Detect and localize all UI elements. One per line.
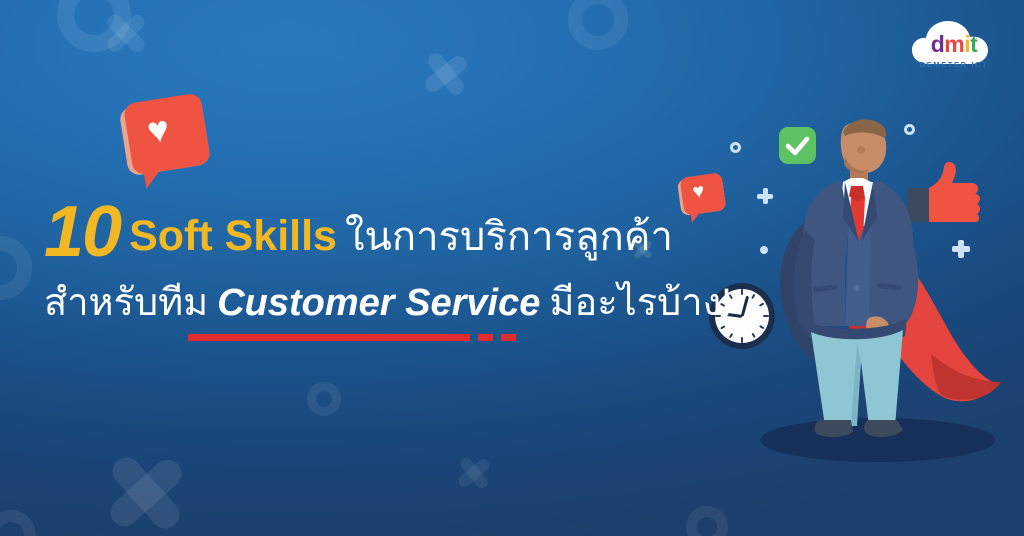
logo-letter-t: t [970,31,977,57]
deco-ring-bottom-mid [307,382,341,416]
bubble-tail [143,166,166,189]
deco-ring-top-right [568,0,628,50]
logo-tagline: DEMETER ICT [908,60,1000,69]
clock-tick-12 [741,289,743,295]
logo-letter-d: d [931,31,945,57]
clock-tick-6 [741,337,743,343]
headline-block: 10Soft Skillsในการบริการลูกค้า สำหรับทีม… [44,196,694,322]
brand-logo[interactable]: dmit DEMETER ICT [908,18,1000,76]
chat-bubble-heart-large: ♥ [123,92,211,175]
banner-canvas: dmit DEMETER ICT ♥ ♥ [0,0,1024,536]
headline-thai-3: มีอะไรบ้าง! [549,282,731,324]
deco-cross-top-mid [422,50,470,98]
deco-ring-mid-left [0,236,32,300]
logo-letter-m: m [944,31,964,57]
headline-soft-skills: Soft Skills [129,212,337,260]
headline-line-2: สำหรับทีมCustomer Serviceมีอะไรบ้าง! [44,284,694,322]
deco-cross-bottom-left [103,450,189,536]
headline-underline-dash-2 [501,334,516,341]
headline-thai-2: สำหรับทีม [44,282,208,324]
deco-ring-bottom-left [0,510,36,536]
headline-underline [188,334,470,341]
deco-dot-ring-a [730,142,741,153]
character-svg [745,110,1020,460]
deco-cross-top-left [103,10,149,56]
headline-underline-dash-1 [478,334,493,341]
headline-customer-service: Customer Service [217,282,540,324]
deco-cross-bottom-mid [456,455,492,491]
headline-thai-1: ในการบริการลูกค้า [345,215,673,259]
logo-wordmark: dmit [908,33,1000,56]
headline-line-1: 10Soft Skillsในการบริการลูกค้า [44,196,694,268]
deco-ring-bottom-center [686,506,728,536]
superhero-businessman-illustration [745,110,1020,460]
headline-number: 10 [44,192,120,272]
